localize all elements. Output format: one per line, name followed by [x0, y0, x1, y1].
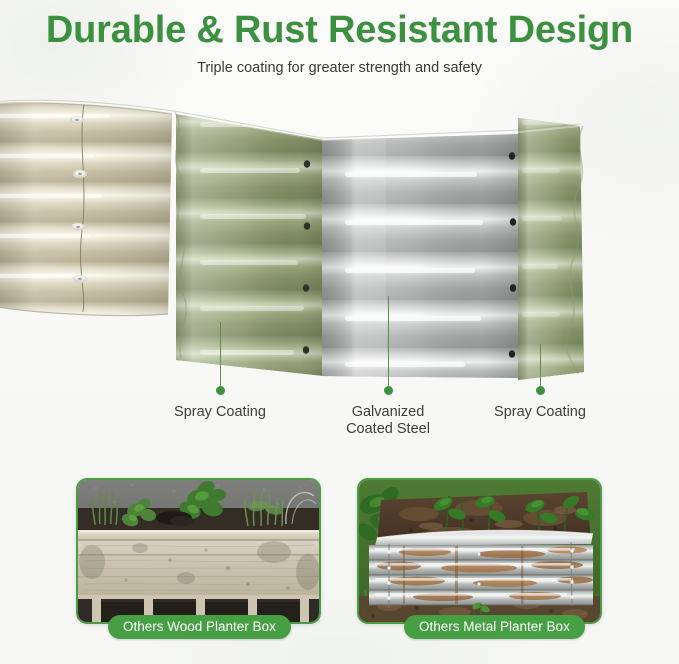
wood-planter-photo-graphic [78, 480, 319, 622]
leader-line-right [540, 344, 541, 388]
header: Durable & Rust Resistant Design Triple c… [0, 0, 679, 76]
callout-spray-coating-right: Spray Coating [470, 404, 610, 421]
page-title: Durable & Rust Resistant Design [0, 0, 679, 51]
leader-dot-left [216, 386, 225, 395]
callout-label-text: Spray Coating [470, 404, 610, 421]
hero-panel-illustration [0, 96, 679, 386]
callout-label-text-line2: Coated Steel [318, 421, 458, 438]
badge-others-metal-planter-box: Others Metal Planter Box [404, 615, 585, 639]
callout-galvanized-coated-steel: Galvanized Coated Steel [318, 404, 458, 438]
leader-dot-center [384, 386, 393, 395]
leader-line-left [220, 322, 221, 388]
page-subtitle: Triple coating for greater strength and … [0, 51, 679, 76]
spray-coating-layer-left [160, 96, 340, 388]
spray-coating-layer-right [512, 96, 602, 388]
badge-others-wood-planter-box: Others Wood Planter Box [108, 615, 291, 639]
panel-cutaway-graphic [0, 96, 679, 388]
leader-dot-right [536, 386, 545, 395]
corrugated-metal-wall [369, 542, 593, 608]
photo-others-wood-planter-box [76, 478, 321, 624]
callout-label-text-line1: Galvanized [318, 404, 458, 421]
infographic-root: Durable & Rust Resistant Design Triple c… [0, 0, 679, 664]
leader-line-center [388, 296, 389, 388]
photo-others-metal-planter-box [357, 478, 602, 624]
callout-label-text: Spray Coating [150, 404, 290, 421]
outer-beige-coating-layer [0, 96, 190, 388]
callout-spray-coating-left: Spray Coating [150, 404, 290, 421]
metal-planter-photo-graphic [359, 480, 600, 622]
